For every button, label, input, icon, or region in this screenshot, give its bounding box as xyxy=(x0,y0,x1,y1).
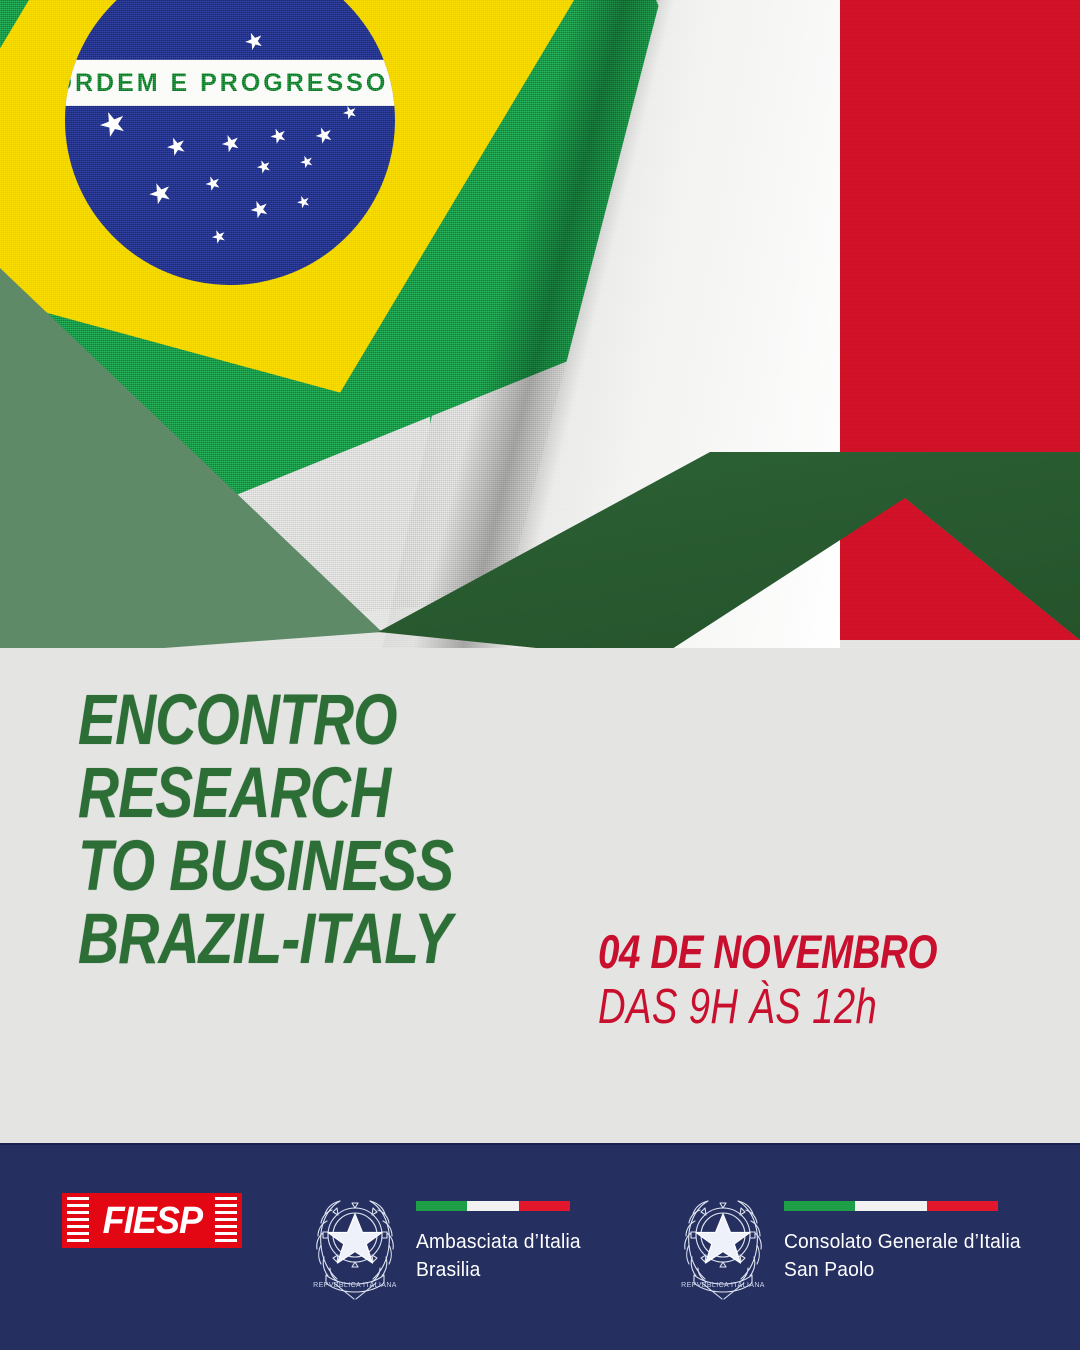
event-title-line-4: BRAZIL-ITALY xyxy=(78,905,454,975)
fiesp-left-ticks xyxy=(67,1197,89,1244)
fiesp-right-ticks xyxy=(215,1197,237,1244)
emblem-ribbon-text: REPVBBLICA ITALIANA xyxy=(681,1282,765,1289)
brazil-star xyxy=(268,126,289,147)
brazil-star xyxy=(96,107,130,141)
brazil-star xyxy=(210,228,228,246)
italy-flag-red-band xyxy=(836,0,1080,640)
brazil-flag-motto-text: ORDEM E PROGRESSO xyxy=(20,60,420,106)
brazil-star xyxy=(164,134,189,159)
consulate-name: Consolato Generale d’Italia xyxy=(784,1229,1021,1257)
brazil-flag-motto-band: ORDEM E PROGRESSO xyxy=(20,60,420,106)
consulate-location: San Paolo xyxy=(784,1257,1021,1285)
brazil-star xyxy=(298,153,315,170)
brazil-star xyxy=(146,179,175,208)
emblem-ribbon-text: REPVBBLICA ITALIANA xyxy=(313,1282,397,1289)
event-title-line-2: RESEARCH xyxy=(78,759,454,829)
brazil-star xyxy=(243,29,266,52)
tricolor-green xyxy=(416,1201,467,1211)
tricolor-white xyxy=(855,1201,926,1211)
brazil-star xyxy=(248,198,271,221)
italian-tricolor-bar xyxy=(416,1201,570,1211)
brazil-star xyxy=(341,103,359,121)
italian-tricolor-bar xyxy=(784,1201,998,1211)
tricolor-red xyxy=(927,1201,998,1211)
brazil-star xyxy=(255,158,273,176)
brazil-star xyxy=(219,132,242,155)
brazil-star xyxy=(313,124,335,146)
footer-bar: FIESP xyxy=(0,1143,1080,1350)
event-date: 04 DE NOVEMBRO xyxy=(598,928,937,975)
tricolor-green xyxy=(784,1201,855,1211)
event-poster: ORDEM E PROGRESSO ENCONTRO RESEARCH TO B… xyxy=(0,0,1080,1350)
event-title: ENCONTRO RESEARCH TO BUSINESS BRAZIL-ITA… xyxy=(78,686,548,978)
consulate-logo-block: REPVBBLICA ITALIANA Consolato Generale d… xyxy=(678,1183,1031,1301)
tricolor-white xyxy=(467,1201,518,1211)
fiesp-logo: FIESP xyxy=(62,1193,242,1248)
event-title-line-3: TO BUSINESS xyxy=(78,832,454,902)
tricolor-red xyxy=(519,1201,570,1211)
italian-republic-emblem-icon: REPVBBLICA ITALIANA xyxy=(678,1183,768,1301)
embassy-logo-block: REPVBBLICA ITALIANA Ambasciata d’Italia … xyxy=(310,1183,588,1301)
event-title-line-1: ENCONTRO xyxy=(78,686,454,756)
embassy-location: Brasilia xyxy=(416,1257,581,1285)
fiesp-wordmark: FIESP xyxy=(102,1202,202,1240)
italian-republic-emblem-icon: REPVBBLICA ITALIANA xyxy=(310,1183,400,1301)
flag-collage-artwork: ORDEM E PROGRESSO xyxy=(0,0,1080,680)
event-date-time: 04 DE NOVEMBRO DAS 9H ÀS 12h xyxy=(598,928,1011,1034)
event-time-range: DAS 9H ÀS 12h xyxy=(598,981,921,1034)
brazil-star xyxy=(203,174,223,194)
brazil-star xyxy=(295,193,312,210)
embassy-name: Ambasciata d’Italia xyxy=(416,1229,581,1257)
